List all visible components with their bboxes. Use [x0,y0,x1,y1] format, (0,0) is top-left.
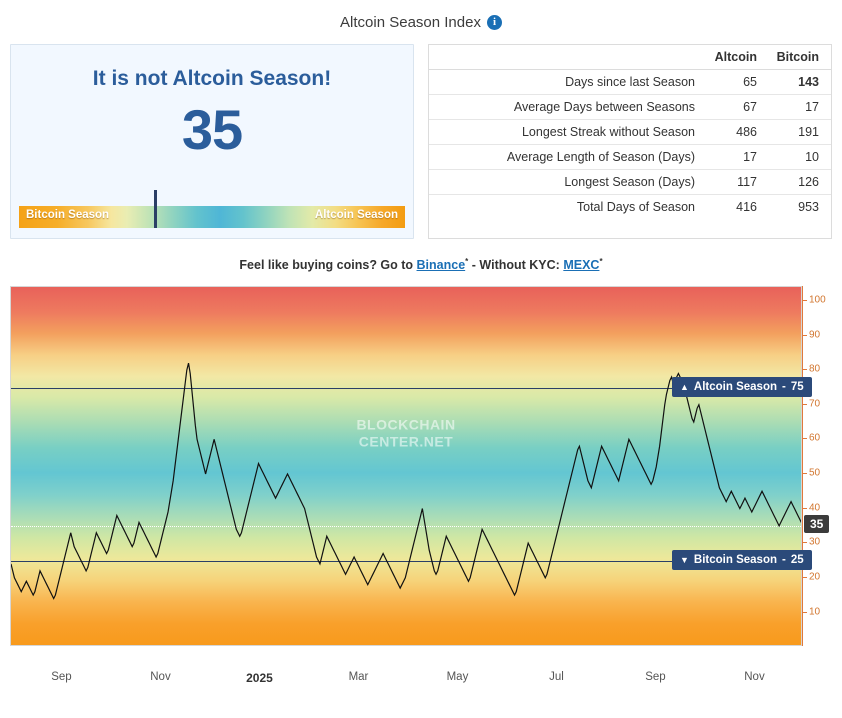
bitcoin-badge-label: Bitcoin Season [694,554,777,566]
bitcoin-value: 126 [769,170,831,195]
y-axis: 102030405060708090100 [802,286,842,646]
y-axis-tick-mark [803,473,807,474]
altcoin-value: 17 [707,145,769,170]
x-axis-tick-label: May [447,671,469,683]
bitcoin-value: 191 [769,120,831,145]
table-header-row: Altcoin Bitcoin [429,45,831,70]
y-axis-tick-label: 60 [809,433,820,444]
altcoin-season-badge: ▲ Altcoin Season - 75 [672,377,812,397]
metric-label: Days since last Season [429,70,707,95]
bitcoin-value: 17 [769,95,831,120]
x-axis-tick-label: Mar [349,671,369,683]
gauge-label-bitcoin: Bitcoin Season [26,209,109,221]
binance-link[interactable]: Binance [417,258,466,272]
metric-label: Average Length of Season (Days) [429,145,707,170]
x-axis-tick-label: Nov [744,671,764,683]
up-arrow-icon: ▲ [680,382,689,392]
index-line-series [11,287,802,646]
y-axis-tick-label: 80 [809,364,820,375]
metric-label: Longest Streak without Season [429,120,707,145]
y-axis-tick-label: 70 [809,398,820,409]
stats-table-card: Altcoin Bitcoin Days since last Season65… [428,44,832,239]
x-axis: SepNov2025MarMayJulSepNov [10,647,802,685]
y-axis-tick-mark [803,612,807,613]
page-title-text: Altcoin Season Index [340,14,481,31]
x-axis-tick-label: 2025 [246,671,273,685]
info-icon[interactable]: i [487,15,502,30]
table-header-metric [429,45,707,70]
mexc-star: * [599,257,602,266]
y-axis-tick-mark [803,369,807,370]
season-summary-card: It is not Altcoin Season! 35 Bitcoin Sea… [10,44,414,239]
top-panels: It is not Altcoin Season! 35 Bitcoin Sea… [0,44,842,239]
gauge-needle [154,190,157,228]
y-axis-tick-label: 20 [809,571,820,582]
y-axis-tick-label: 30 [809,537,820,548]
y-axis-tick-mark [803,300,807,301]
mexc-link[interactable]: MEXC [563,258,599,272]
y-axis-tick-mark [803,542,807,543]
promo-prefix: Feel like buying coins? Go to [239,258,416,272]
x-axis-tick-label: Nov [150,671,170,683]
altcoin-value: 486 [707,120,769,145]
gauge-label-altcoin: Altcoin Season [315,209,398,221]
altcoin-badge-value: 75 [791,381,804,393]
page-title: Altcoin Season Index i [0,0,842,44]
y-axis-tick-label: 40 [809,502,820,513]
page-root: Altcoin Season Index i It is not Altcoin… [0,0,842,718]
altcoin-value: 117 [707,170,769,195]
y-axis-tick-label: 100 [809,295,826,306]
bitcoin-season-badge: ▼ Bitcoin Season - 25 [672,550,812,570]
y-axis-tick-label: 50 [809,468,820,479]
altcoin-badge-sep: - [782,381,786,393]
season-index-value: 35 [11,99,413,161]
y-axis-tick-label: 90 [809,329,820,340]
x-axis-tick-label: Sep [645,671,665,683]
chart-container: BLOCKCHAIN CENTER.NET 102030405060708090… [10,286,832,686]
stats-table-body: Days since last Season65143Average Days … [429,70,831,220]
bitcoin-value: 10 [769,145,831,170]
down-arrow-icon: ▼ [680,555,689,565]
table-row: Longest Streak without Season486191 [429,120,831,145]
metric-label: Longest Season (Days) [429,170,707,195]
promo-middle: - Without KYC: [468,258,563,272]
season-gauge: Bitcoin Season Altcoin Season [19,206,405,228]
y-axis-tick-label: 10 [809,606,820,617]
table-header-bitcoin: Bitcoin [769,45,831,70]
y-axis-tick-mark [803,508,807,509]
altcoin-value: 67 [707,95,769,120]
table-row: Total Days of Season416953 [429,195,831,220]
stats-table: Altcoin Bitcoin Days since last Season65… [429,45,831,219]
bitcoin-badge-value: 25 [791,554,804,566]
bitcoin-value: 953 [769,195,831,220]
table-row: Average Days between Seasons6717 [429,95,831,120]
y-axis-tick-mark [803,577,807,578]
altcoin-value: 416 [707,195,769,220]
current-value-tag: 35 [804,515,829,533]
chart-plot-area[interactable]: BLOCKCHAIN CENTER.NET [10,286,802,646]
table-header-altcoin: Altcoin [707,45,769,70]
promo-line: Feel like buying coins? Go to Binance* -… [0,239,842,286]
table-row: Days since last Season65143 [429,70,831,95]
bitcoin-badge-sep: - [782,554,786,566]
table-row: Longest Season (Days)117126 [429,170,831,195]
x-axis-tick-label: Jul [549,671,564,683]
altcoin-badge-label: Altcoin Season [694,381,777,393]
table-row: Average Length of Season (Days)1710 [429,145,831,170]
gauge-bar: Bitcoin Season Altcoin Season [19,206,405,228]
y-axis-tick-mark [803,404,807,405]
season-headline: It is not Altcoin Season! [11,67,413,91]
x-axis-tick-label: Sep [51,671,71,683]
y-axis-tick-mark [803,335,807,336]
y-axis-tick-mark [803,438,807,439]
metric-label: Total Days of Season [429,195,707,220]
altcoin-value: 65 [707,70,769,95]
bitcoin-value: 143 [769,70,831,95]
metric-label: Average Days between Seasons [429,95,707,120]
